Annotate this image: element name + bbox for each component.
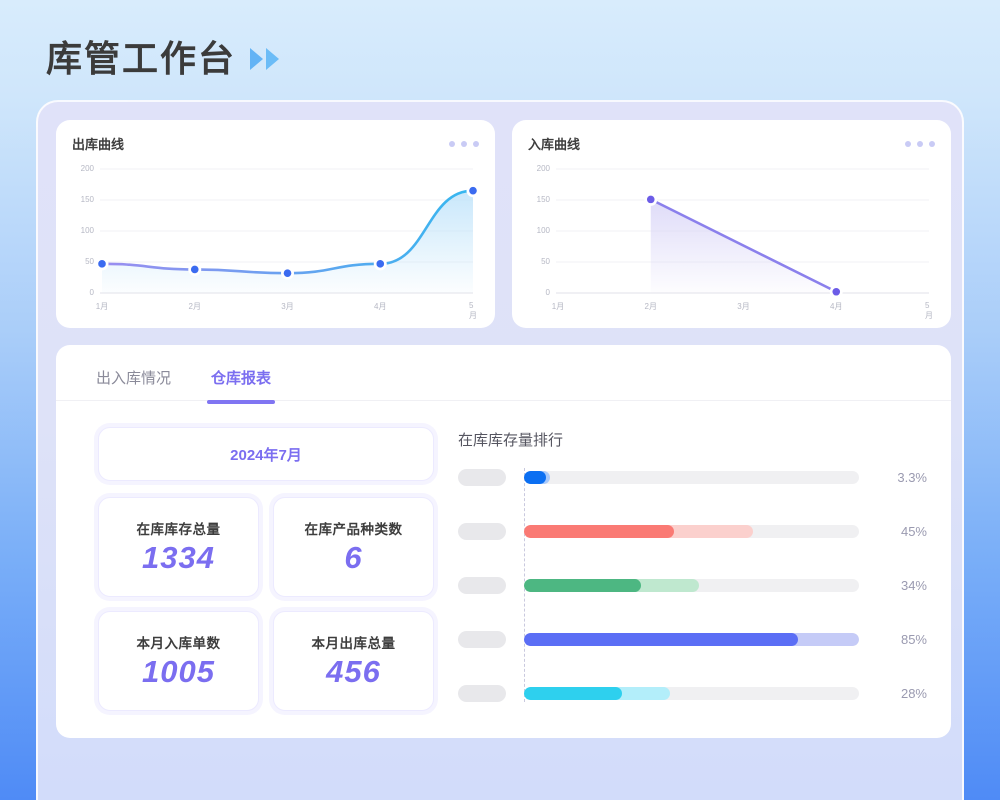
- outbound-chart-header: 出库曲线: [72, 134, 479, 153]
- y-axis-tick-label: 0: [528, 288, 550, 297]
- ranking-label-placeholder: [458, 577, 506, 594]
- ranking-label-placeholder: [458, 523, 506, 540]
- ranking-list: 3.3%45%34%85%28%: [458, 468, 927, 702]
- ranking-label-placeholder: [458, 631, 506, 648]
- x-axis-tick-label: 4月: [830, 301, 842, 312]
- dashboard-panel: 出库曲线 0501001502001月2月3月4月5月 入库曲线 0501001…: [36, 100, 964, 800]
- inbound-chart-card: 入库曲线 0501001502001月2月3月4月5月: [512, 120, 951, 328]
- ranking-title: 在库库存量排行: [458, 429, 927, 450]
- stat-value: 1334: [142, 540, 215, 576]
- chart-row: 出库曲线 0501001502001月2月3月4月5月 入库曲线 0501001…: [56, 120, 944, 328]
- x-axis-tick-label: 3月: [737, 301, 749, 312]
- chart-data-point[interactable]: [98, 260, 106, 268]
- outbound-chart-title: 出库曲线: [72, 134, 124, 153]
- ranking-bar-fill: [524, 579, 641, 592]
- y-axis-tick-label: 200: [528, 164, 550, 173]
- ranking-bar-track: [524, 633, 859, 646]
- x-axis-tick-label: 1月: [552, 301, 564, 312]
- stat-card-outbound-total[interactable]: 本月出库总量 456: [273, 611, 434, 711]
- tab-inout-status[interactable]: 出入库情况: [96, 367, 171, 400]
- ranking-bar-fill: [524, 687, 622, 700]
- x-axis-tick-label: 5月: [925, 301, 933, 321]
- y-axis-tick-label: 100: [72, 226, 94, 235]
- double-chevron-right-icon[interactable]: [250, 42, 279, 70]
- y-axis-tick-label: 150: [528, 195, 550, 204]
- date-value: 2024年7月: [230, 444, 302, 465]
- ranking-bar-fill: [524, 525, 674, 538]
- x-axis-tick-label: 2月: [645, 301, 657, 312]
- stat-label: 在库库存总量: [137, 518, 221, 538]
- stat-value: 6: [344, 540, 362, 576]
- chart-data-point[interactable]: [647, 196, 655, 204]
- more-dots-icon[interactable]: [449, 141, 479, 147]
- date-selector[interactable]: 2024年7月: [98, 427, 434, 481]
- ranking-percent-label: 28%: [875, 686, 927, 701]
- x-axis-tick-label: 3月: [281, 301, 293, 312]
- ranking-bar-track: [524, 579, 859, 592]
- report-card: 出入库情况 仓库报表 2024年7月 在库库存总量 1334 在库产品种类数 6: [56, 345, 951, 738]
- inbound-chart-plot: 0501001502001月2月3月4月5月: [528, 159, 935, 319]
- report-tabs: 出入库情况 仓库报表: [56, 345, 951, 401]
- y-axis-tick-label: 150: [72, 195, 94, 204]
- ranking-bar-fill: [524, 471, 546, 484]
- tab-warehouse-report[interactable]: 仓库报表: [211, 367, 271, 400]
- ranking-percent-label: 45%: [875, 524, 927, 539]
- ranking-column: 在库库存量排行 3.3%45%34%85%28%: [458, 427, 927, 711]
- outbound-chart-plot: 0501001502001月2月3月4月5月: [72, 159, 479, 319]
- ranking-bar-track: [524, 471, 859, 484]
- inbound-chart-header: 入库曲线: [528, 134, 935, 153]
- ranking-label-placeholder: [458, 469, 506, 486]
- chart-data-point[interactable]: [191, 266, 199, 274]
- stats-column: 2024年7月 在库库存总量 1334 在库产品种类数 6 本月入库单数 100…: [98, 427, 434, 711]
- stat-value: 456: [326, 654, 381, 690]
- chart-data-point[interactable]: [469, 187, 477, 195]
- x-axis-tick-label: 1月: [96, 301, 108, 312]
- ranking-row[interactable]: 28%: [458, 684, 927, 702]
- chart-svg: [528, 159, 935, 319]
- outbound-chart-card: 出库曲线 0501001502001月2月3月4月5月: [56, 120, 495, 328]
- ranking-bar-track: [524, 687, 859, 700]
- stat-card-inbound-orders[interactable]: 本月入库单数 1005: [98, 611, 259, 711]
- ranking-percent-label: 3.3%: [875, 470, 927, 485]
- y-axis-tick-label: 50: [528, 257, 550, 266]
- chart-data-point[interactable]: [832, 288, 840, 296]
- stat-label: 在库产品种类数: [305, 518, 403, 538]
- arrow-second-icon: [266, 48, 279, 70]
- chart-data-point[interactable]: [284, 269, 292, 277]
- ranking-row[interactable]: 45%: [458, 522, 927, 540]
- chart-svg: [72, 159, 479, 319]
- y-axis-tick-label: 100: [528, 226, 550, 235]
- stats-grid: 在库库存总量 1334 在库产品种类数 6 本月入库单数 1005 本月出库总量…: [98, 497, 434, 711]
- stat-value: 1005: [142, 654, 215, 690]
- report-body: 2024年7月 在库库存总量 1334 在库产品种类数 6 本月入库单数 100…: [56, 401, 951, 711]
- ranking-bar-fill: [524, 633, 798, 646]
- ranking-row[interactable]: 85%: [458, 630, 927, 648]
- page-title: 库管工作台: [46, 30, 236, 82]
- ranking-bar-track: [524, 525, 859, 538]
- y-axis-tick-label: 0: [72, 288, 94, 297]
- stat-card-total-stock[interactable]: 在库库存总量 1334: [98, 497, 259, 597]
- chart-data-point[interactable]: [376, 260, 384, 268]
- ranking-percent-label: 85%: [875, 632, 927, 647]
- arrow-first-icon: [250, 48, 263, 70]
- ranking-row[interactable]: 3.3%: [458, 468, 927, 486]
- inbound-chart-title: 入库曲线: [528, 134, 580, 153]
- page-header: 库管工作台: [46, 30, 279, 82]
- stat-label: 本月入库单数: [137, 632, 221, 652]
- y-axis-tick-label: 50: [72, 257, 94, 266]
- y-axis-tick-label: 200: [72, 164, 94, 173]
- more-dots-icon[interactable]: [905, 141, 935, 147]
- stat-card-product-types[interactable]: 在库产品种类数 6: [273, 497, 434, 597]
- ranking-label-placeholder: [458, 685, 506, 702]
- x-axis-tick-label: 2月: [189, 301, 201, 312]
- ranking-percent-label: 34%: [875, 578, 927, 593]
- stat-label: 本月出库总量: [312, 632, 396, 652]
- ranking-row[interactable]: 34%: [458, 576, 927, 594]
- x-axis-tick-label: 5月: [469, 301, 477, 321]
- x-axis-tick-label: 4月: [374, 301, 386, 312]
